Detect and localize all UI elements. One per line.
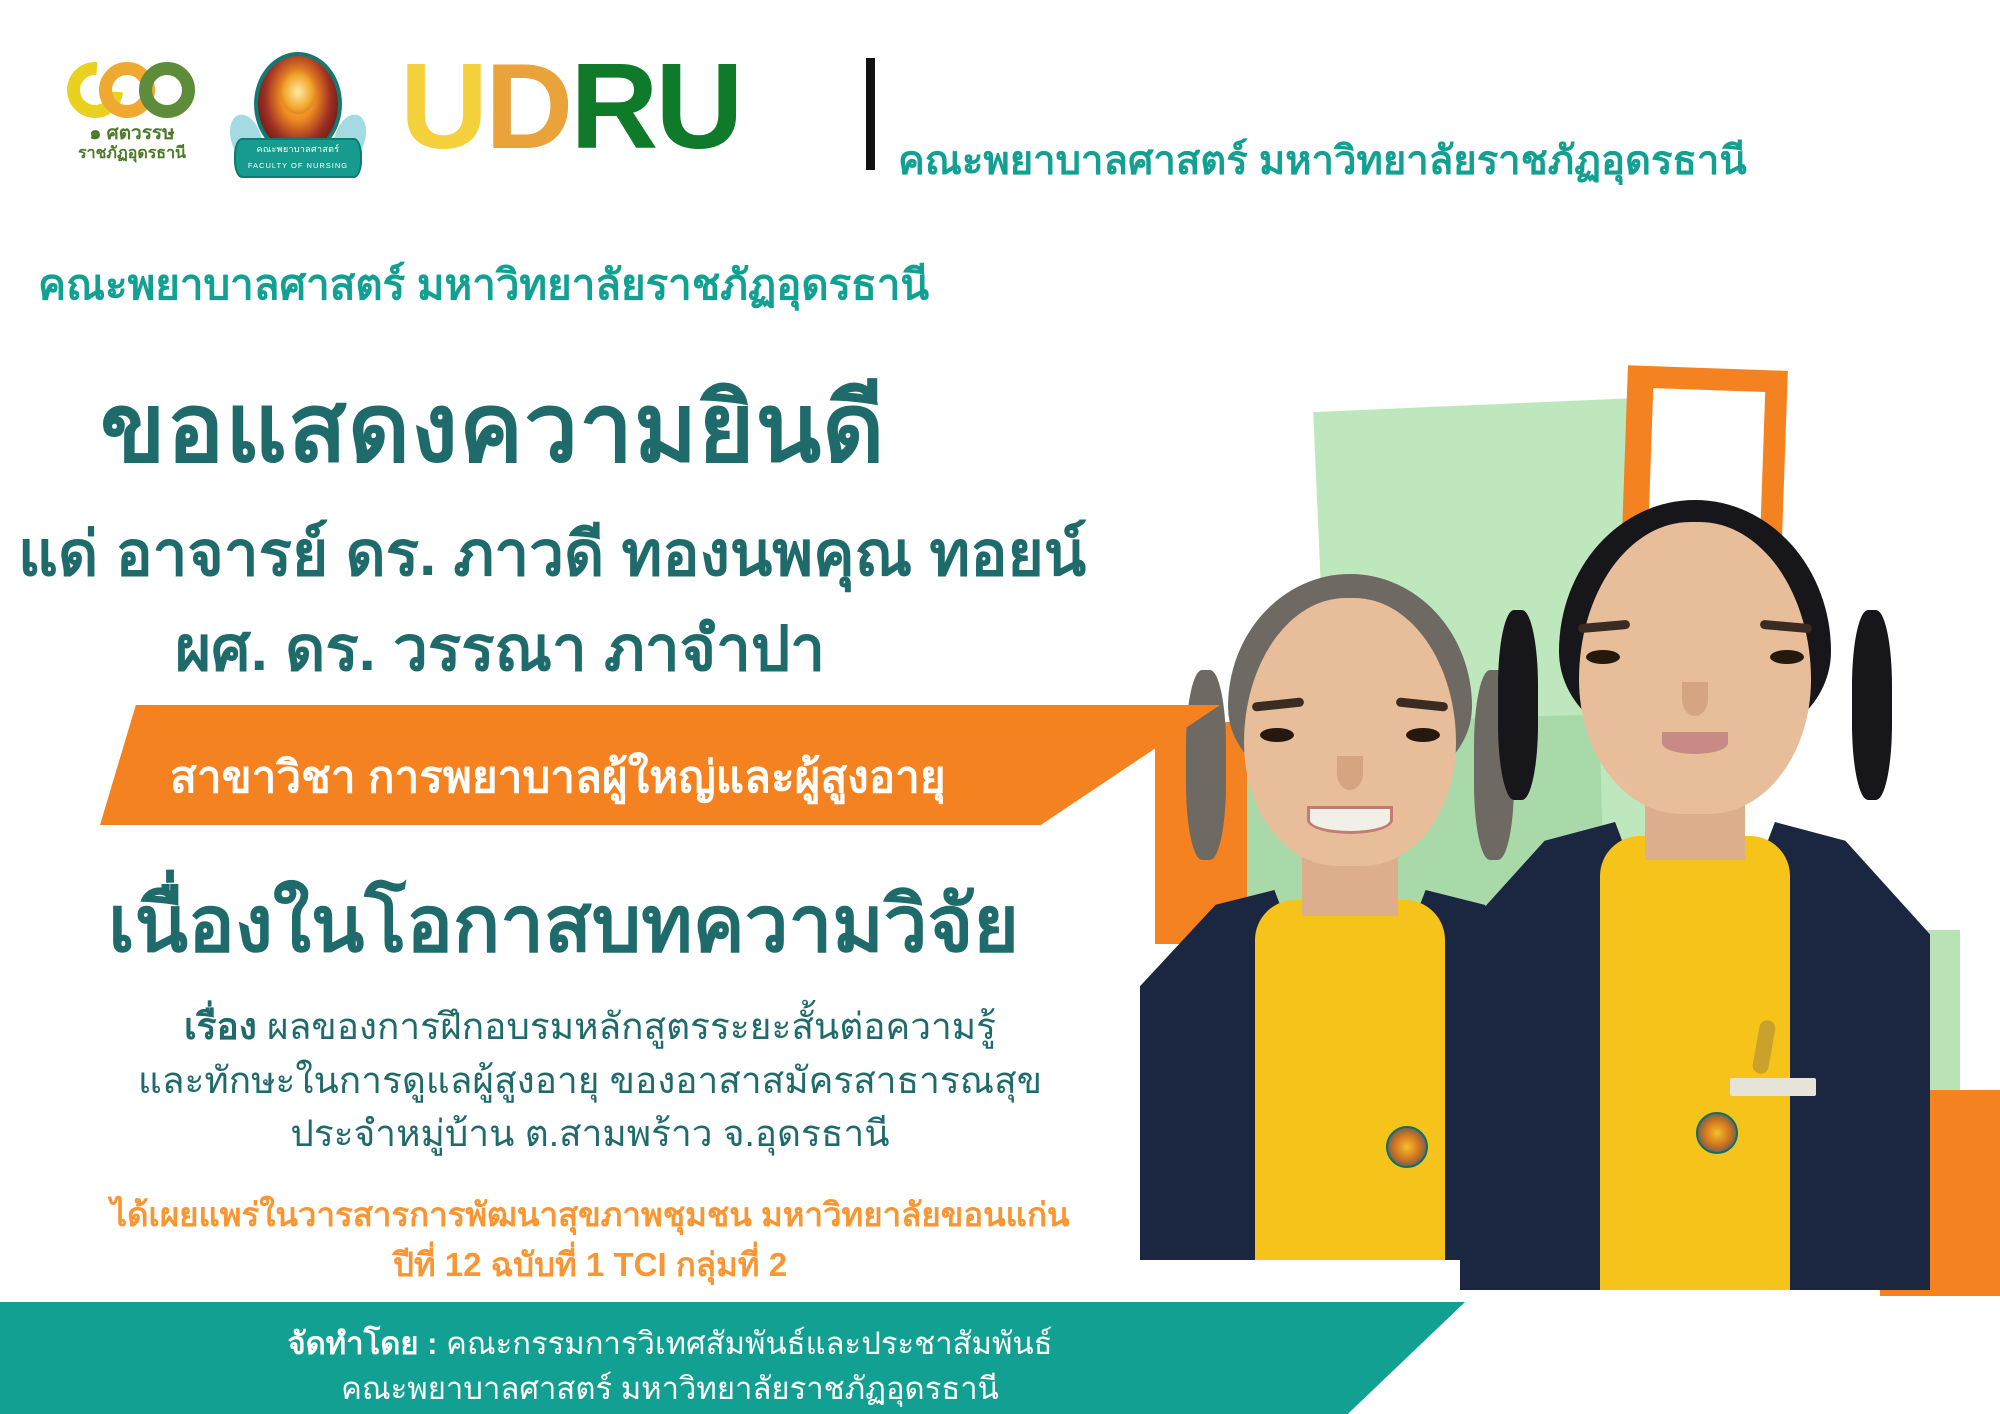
publication-journal: ได้เผยแพร่ในวารสารการพัฒนาสุขภาพชุมชน มห…	[0, 1190, 1180, 1240]
department-banner-label: สาขาวิชา การพยาบาลผู้ใหญ่และผู้สูงอายุ	[170, 742, 946, 812]
article-line-3: ประจำหมู่บ้าน ต.สามพร้าว จ.อุดรธานี	[0, 1107, 1180, 1161]
congratulations-heading: ขอแสดงความยินดี	[100, 352, 886, 504]
poster-root: ๑ ศตวรรษ ราชภัฏอุดรธานี คณะพยาบาลศาสตร์ …	[0, 0, 2000, 1414]
article-block: เรื่อง ผลของการฝึกอบรมหลักสูตรระยะสั้นต่…	[0, 1000, 1180, 1161]
occasion-heading: เนื่องในโอกาสบทความวิจัย	[108, 862, 1019, 986]
footer-committee: คณะกรรมการวิเทศสัมพันธ์และประชาสัมพันธ์	[437, 1326, 1052, 1361]
faculty-pin-icon	[1696, 1112, 1738, 1154]
portrait-honoree-2	[1460, 500, 1930, 1290]
article-line-1: เรื่อง ผลของการฝึกอบรมหลักสูตรระยะสั้นต่…	[0, 1000, 1180, 1054]
publication-block: ได้เผยแพร่ในวารสารการพัฒนาสุขภาพชุมชน มห…	[0, 1190, 1180, 1289]
footer-label: จัดทำโดย :	[287, 1326, 437, 1361]
honoree-name-1: แด่ อาจารย์ ดร. ภาวดี ทองนพคุณ ทอยน์	[18, 505, 1086, 603]
publication-issue: ปีที่ 12 ฉบับที่ 1 TCI กลุ่มที่ 2	[0, 1240, 1180, 1290]
footer-line-2: คณะพยาบาลศาสตร์ มหาวิทยาลัยราชภัฏอุดรธาน…	[0, 1367, 1340, 1412]
article-label: เรื่อง	[184, 1006, 257, 1047]
faculty-pin-icon	[1386, 1126, 1428, 1168]
footer-text-block: จัดทำโดย : คณะกรรมการวิเทศสัมพันธ์และประ…	[0, 1322, 1340, 1412]
article-title-part-1: ผลของการฝึกอบรมหลักสูตรระยะสั้นต่อความรู…	[257, 1006, 996, 1047]
name-tag	[1730, 1078, 1816, 1096]
footer-line-1: จัดทำโดย : คณะกรรมการวิเทศสัมพันธ์และประ…	[0, 1322, 1340, 1367]
honoree-name-2: ผศ. ดร. วรรณา ภาจำปา	[0, 600, 1000, 698]
faculty-name-line: คณะพยาบาลศาสตร์ มหาวิทยาลัยราชภัฏอุดรธาน…	[38, 252, 929, 318]
article-line-2: และทักษะในการดูแลผู้สูงอายุ ของอาสาสมัคร…	[0, 1054, 1180, 1108]
